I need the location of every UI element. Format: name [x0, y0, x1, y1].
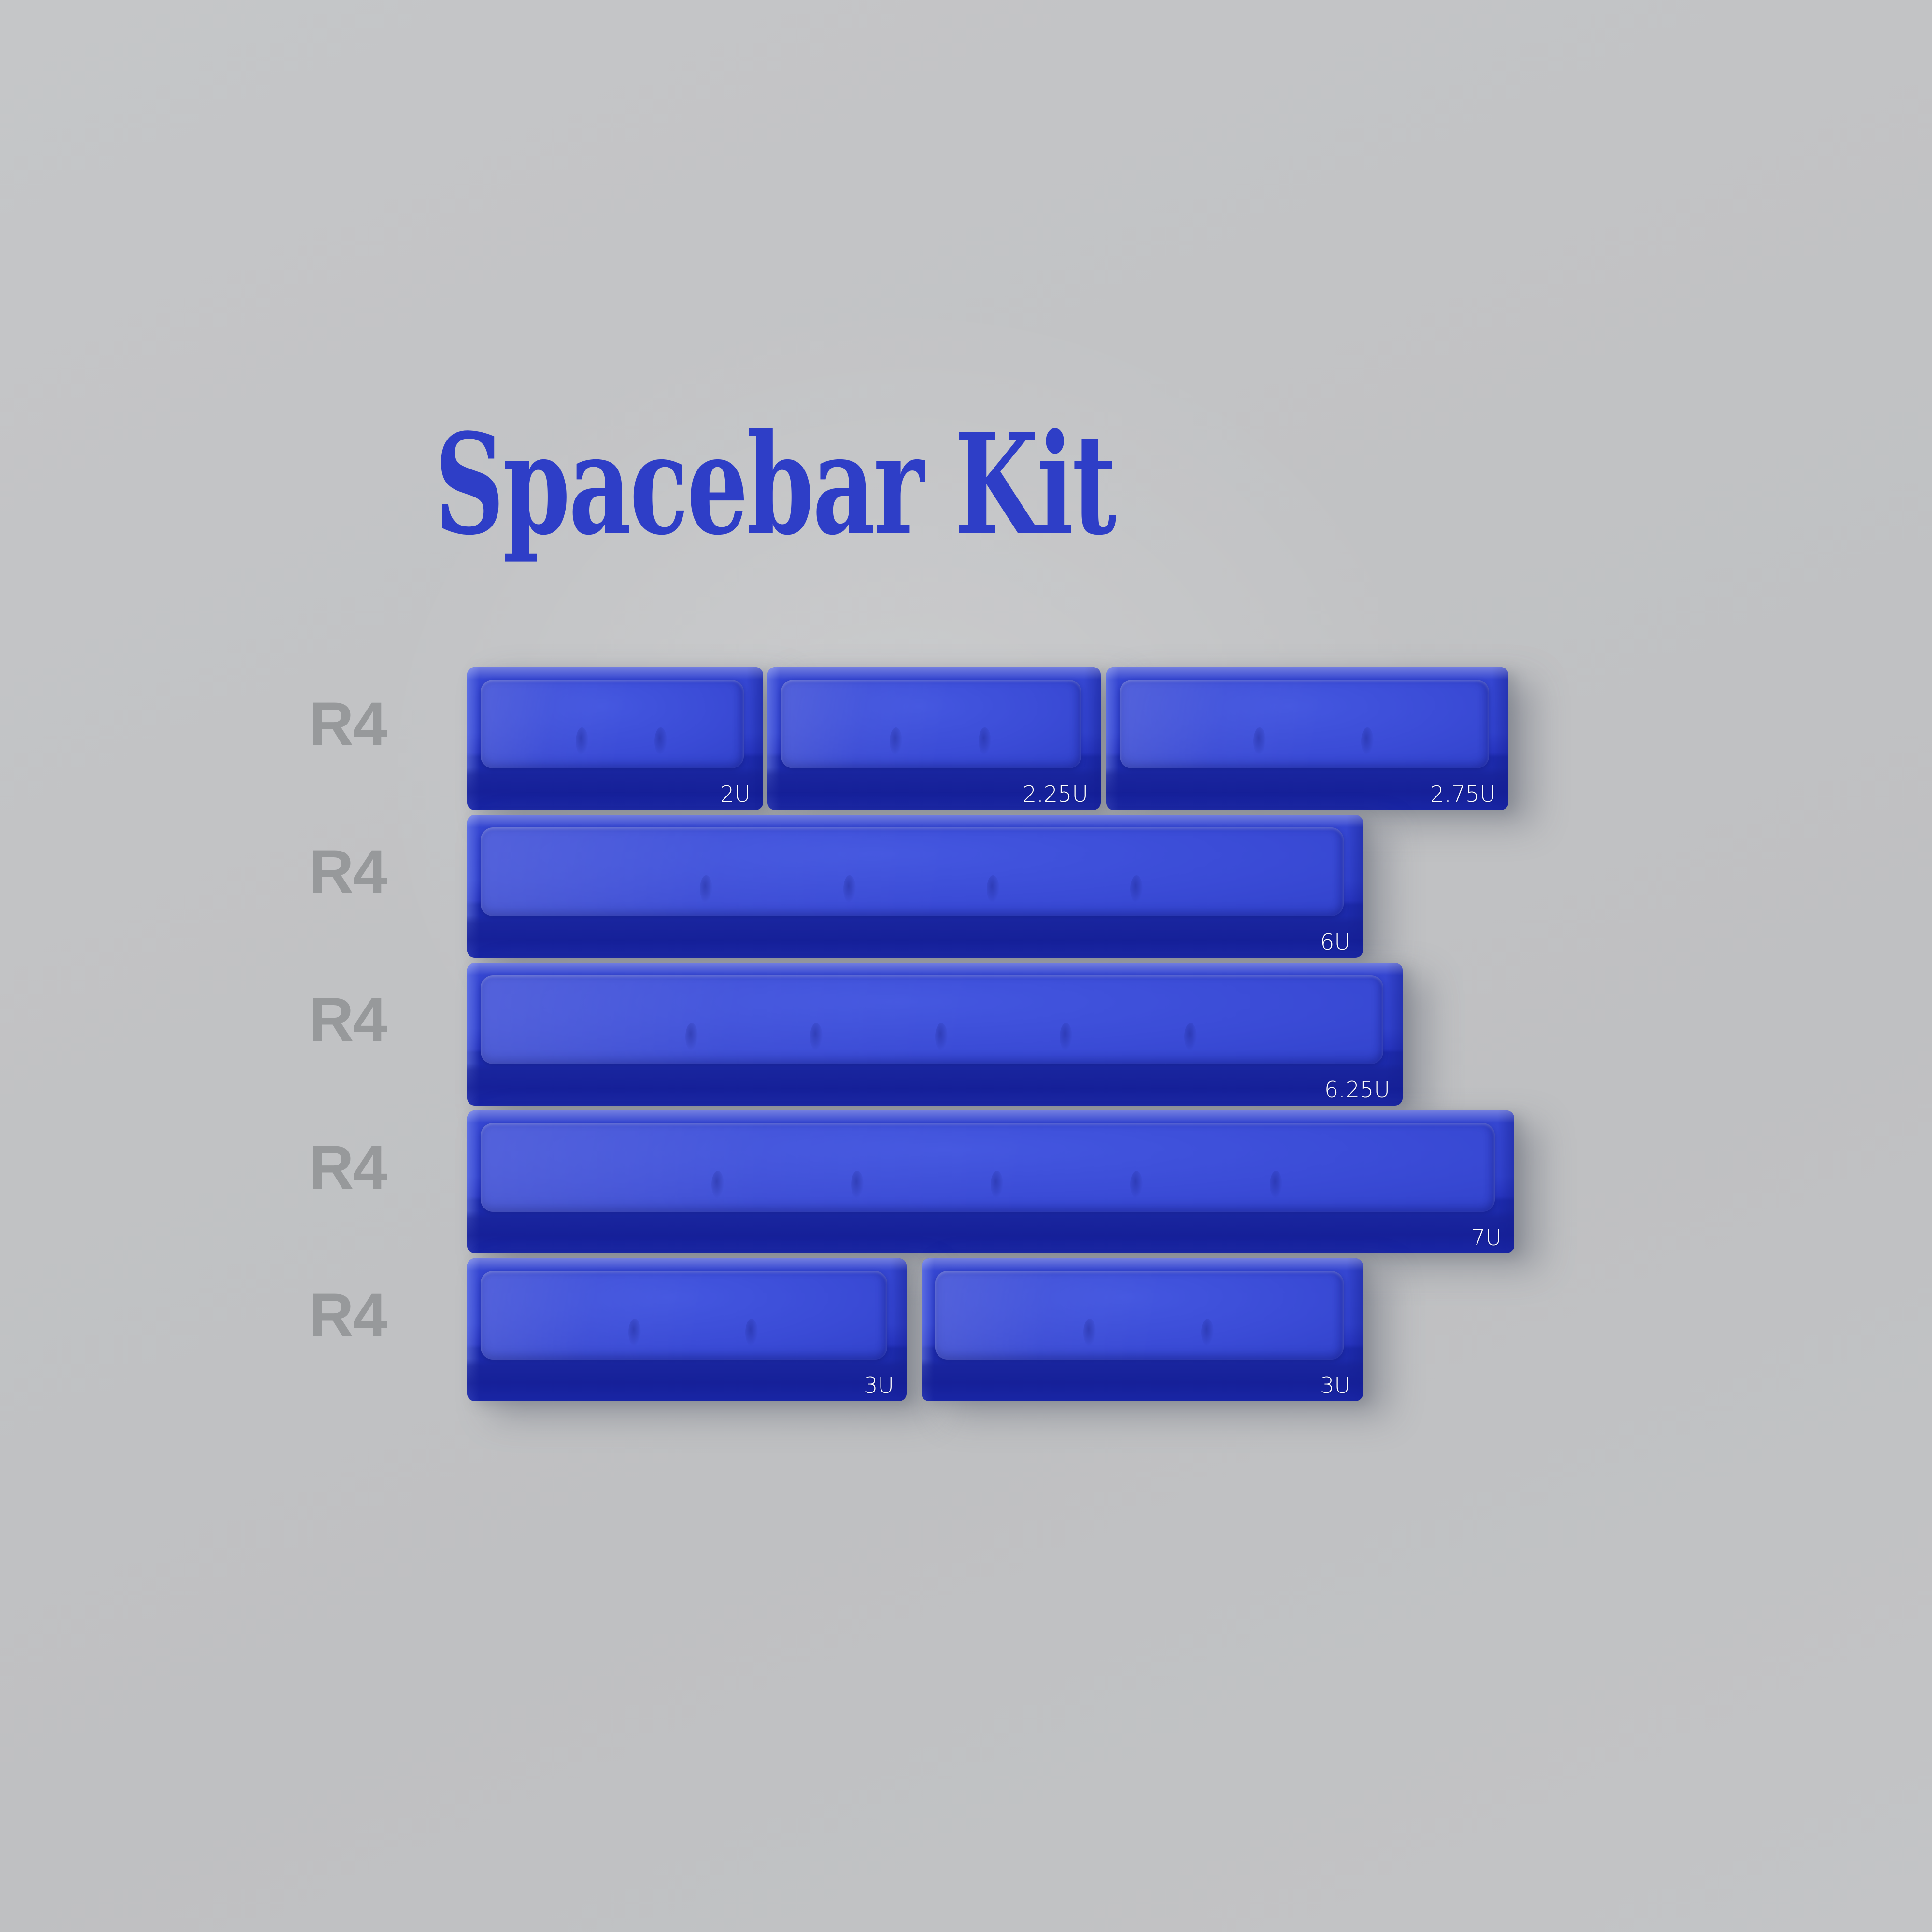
keycap-top-surface	[1120, 680, 1489, 768]
keycap-size-label: 3U	[864, 1372, 894, 1398]
keycap-top-surface	[481, 1271, 887, 1360]
keycap-2-75u[interactable]: 2.75U	[1106, 667, 1508, 810]
row-label-r3: R4	[309, 989, 386, 1051]
keycap-6-25u[interactable]: 6.25U	[467, 963, 1403, 1106]
keycap-6u[interactable]: 6U	[467, 815, 1363, 958]
page-title: Spacebar Kit	[435, 416, 1115, 554]
keycap-3u[interactable]: 3U	[922, 1258, 1363, 1401]
keycap-top-surface	[481, 975, 1383, 1064]
keycap-3u[interactable]: 3U	[467, 1258, 907, 1401]
keycap-top-surface	[481, 1123, 1495, 1212]
keycap-2-25u[interactable]: 2.25U	[767, 667, 1101, 810]
keycap-front-face	[467, 767, 763, 810]
keycap-size-label: 6U	[1320, 929, 1350, 955]
keycap-front-face	[467, 915, 1363, 958]
keycap-2u[interactable]: 2U	[467, 667, 763, 810]
keycap-front-face	[922, 1359, 1363, 1401]
keycap-size-label: 2.75U	[1430, 781, 1496, 807]
keycap-front-face	[467, 1063, 1403, 1106]
keycap-top-surface	[935, 1271, 1344, 1360]
keycap-size-label: 2.25U	[1023, 781, 1088, 807]
keycap-size-label: 3U	[1320, 1372, 1350, 1398]
keycap-kit-render: Spacebar Kit R42U2.25U2.75UR46UR46.25UR4…	[0, 0, 1932, 1932]
keycap-front-face	[467, 1211, 1514, 1253]
row-label-r4: R4	[309, 1137, 386, 1199]
keycap-7u[interactable]: 7U	[467, 1110, 1514, 1253]
row-label-r5: R4	[309, 1285, 386, 1347]
keycap-size-label: 7U	[1471, 1224, 1502, 1250]
keycap-size-label: 6.25U	[1324, 1077, 1390, 1103]
keycap-size-label: 2U	[720, 781, 751, 807]
keycap-top-surface	[481, 827, 1344, 916]
keycap-top-surface	[481, 680, 744, 768]
row-label-r1: R4	[309, 694, 386, 755]
keycap-top-surface	[781, 680, 1081, 768]
keycap-front-face	[467, 1359, 907, 1401]
row-label-r2: R4	[309, 841, 386, 903]
